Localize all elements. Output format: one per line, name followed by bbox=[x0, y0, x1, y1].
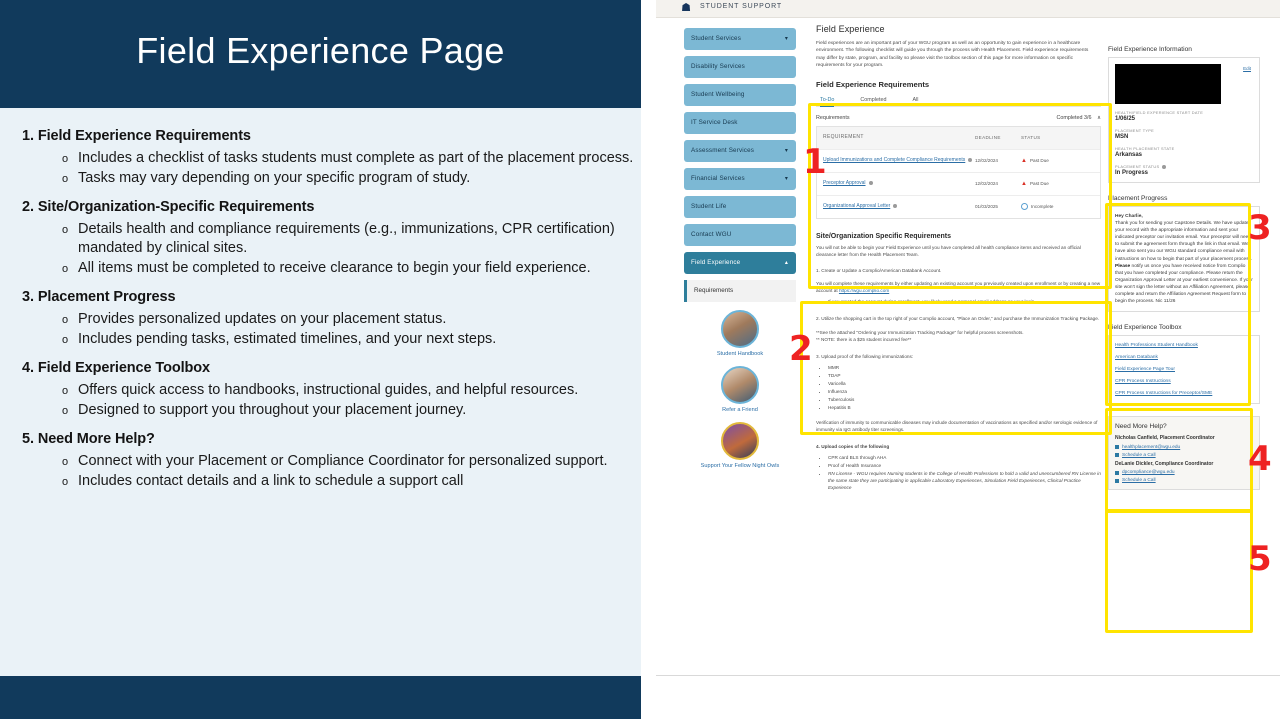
slide-title-band: Field Experience Page bbox=[0, 0, 641, 108]
toolbox-link-page-tour[interactable]: Field Experience Page Tour bbox=[1115, 366, 1253, 373]
owl-logo-icon: ☗ bbox=[680, 3, 692, 14]
field-experience-toolbox-card: Field Experience Toolbox Health Professi… bbox=[1108, 324, 1260, 404]
table-header-row: REQUIREMENT DEADLINE STATUS bbox=[817, 127, 1100, 150]
tab-to-do[interactable]: To-Do bbox=[820, 97, 834, 107]
redacted-photo bbox=[1115, 64, 1221, 104]
sidebar-item-student-wellbeing[interactable]: Student Wellbeing bbox=[684, 84, 796, 106]
toolbox-card-body: Health Professions Student Handbook Amer… bbox=[1108, 335, 1260, 404]
chevron-down-icon: ▾ bbox=[785, 140, 788, 162]
contact-name-placement: Nicholas Canfield, Placement Coordinator bbox=[1115, 435, 1253, 442]
callout-number-1: 1 bbox=[803, 145, 827, 179]
promo-label: Student Handbook bbox=[686, 351, 794, 358]
copies-list: CPR card BLS through AHA Proof of Health… bbox=[816, 454, 1101, 491]
field-label-text: PLACEMENT STATUS bbox=[1115, 164, 1159, 169]
list-item: Offers quick access to handbooks, instru… bbox=[62, 381, 637, 400]
list-item: RN License - WGU requires Nursing studen… bbox=[828, 470, 1101, 491]
section-heading-1: 1. Field Experience Requirements bbox=[22, 118, 637, 144]
screenshot-bottom-edge bbox=[656, 675, 1280, 676]
field-experience-information-card: Field Experience Information Edit HEALTH… bbox=[1108, 46, 1260, 183]
section-bullets-1: Includes a checklist of tasks students m… bbox=[4, 149, 637, 188]
contact-name-compliance: DeLanie Dickler, Compliance Coordinator bbox=[1115, 461, 1253, 468]
list-item: Provides personalized updates on your pl… bbox=[62, 310, 637, 329]
info-card-body: Edit HEALTH/FIELD EXPERIENCE START DATE … bbox=[1108, 57, 1260, 183]
help-card-body: Need More Help? Nicholas Canfield, Place… bbox=[1108, 416, 1260, 490]
status-badge: ▲ Past Due bbox=[1021, 158, 1094, 164]
status-text: Past Due bbox=[1030, 181, 1049, 186]
list-item: CPR card BLS through AHA bbox=[828, 454, 1101, 461]
completed-count: Completed 3/6 bbox=[1056, 115, 1091, 121]
callout-number-5: 5 bbox=[1248, 542, 1272, 576]
requirement-link[interactable]: Organizational Approval Letter bbox=[823, 203, 890, 209]
email-icon bbox=[1115, 445, 1119, 449]
chevron-up-icon: ▴ bbox=[785, 252, 788, 274]
step-3: 3. Upload proof of the following immuniz… bbox=[816, 353, 1101, 360]
sidebar-item-it-service-desk[interactable]: IT Service Desk bbox=[684, 112, 796, 134]
step-4: 4. Upload copies of the following bbox=[816, 443, 1101, 450]
list-item: Designed to support you throughout your … bbox=[62, 401, 637, 420]
complio-link[interactable]: https://wgu.complio.com bbox=[839, 288, 889, 293]
app-brand-label: STUDENT SUPPORT bbox=[700, 3, 782, 10]
progress-card-body: Hey Charlie, Thank you for sending your … bbox=[1108, 206, 1260, 312]
section-bullets-5: Connect with your Placement or Complianc… bbox=[4, 452, 637, 491]
sidebar-item-assessment-services[interactable]: Assessment Services ▾ bbox=[684, 140, 796, 162]
list-item: If you created the account during enroll… bbox=[828, 298, 1101, 305]
sidebar-item-label: Contact WGU bbox=[691, 231, 732, 238]
main-intro-text: Field experiences are an important part … bbox=[816, 40, 1094, 70]
circle-icon bbox=[1021, 203, 1028, 210]
site-step-1-bullets: If you created the account during enroll… bbox=[816, 298, 1101, 305]
deadline-value: 12/02/2024 bbox=[975, 158, 1021, 163]
immunizations-list: MMR TDAP Varicella Influenza Tuberculosi… bbox=[816, 364, 1101, 411]
section-heading-5: 5. Need More Help? bbox=[22, 421, 637, 447]
schedule-call-compliance[interactable]: Schedule a Call bbox=[1115, 478, 1253, 483]
avatar bbox=[721, 310, 759, 348]
info-icon[interactable] bbox=[968, 158, 972, 162]
column-deadline: DEADLINE bbox=[975, 135, 1021, 140]
placement-progress-card: Placement Progress Hey Charlie, Thank yo… bbox=[1108, 195, 1260, 312]
field-experience-requirements-card: Field Experience Requirements To-Do Comp… bbox=[816, 80, 1101, 219]
section-heading-2: 2. Site/Organization-Specific Requiremen… bbox=[22, 189, 637, 215]
list-item: Includes contact details and a link to s… bbox=[62, 472, 637, 491]
note-1: **See the attached "Ordering your Immuni… bbox=[816, 329, 1101, 336]
warning-icon: ▲ bbox=[1021, 181, 1027, 187]
requirement-link[interactable]: Upload Immunizations and Complete Compli… bbox=[823, 157, 965, 163]
site-intro-text: You will not be able to begin your Field… bbox=[816, 244, 1101, 258]
sidebar-item-label: Student Life bbox=[691, 203, 726, 210]
status-badge: Incomplete bbox=[1021, 203, 1094, 210]
chevron-down-icon: ▾ bbox=[785, 28, 788, 50]
list-item: Includes a checklist of tasks students m… bbox=[62, 149, 637, 168]
card-title: Placement Progress bbox=[1108, 195, 1260, 202]
sidebar-item-field-experience[interactable]: Field Experience ▴ bbox=[684, 252, 796, 274]
info-icon[interactable] bbox=[1162, 165, 1166, 169]
site-organization-requirements-card: Site/Organization Specific Requirements … bbox=[816, 233, 1101, 305]
sidebar-item-student-services[interactable]: Student Services ▾ bbox=[684, 28, 796, 50]
field-value-placement-state: Arkansas bbox=[1115, 152, 1253, 158]
field-label-placement-state: HEALTH PLACEMENT STATE bbox=[1115, 146, 1253, 151]
calendar-icon bbox=[1115, 453, 1119, 457]
edit-link[interactable]: Edit bbox=[1243, 66, 1251, 71]
sidebar-item-label: Field Experience bbox=[691, 259, 740, 266]
promo-label: Support Your Fellow Night Owls bbox=[686, 463, 794, 470]
verification-text: Verification of immunity to communicable… bbox=[816, 419, 1101, 433]
table-row[interactable]: Organizational Approval Letter 01/03/202… bbox=[817, 196, 1100, 218]
sidebar-promos: Student Handbook Refer a Friend Support … bbox=[686, 310, 794, 478]
card-title: Field Experience Toolbox bbox=[1108, 324, 1260, 331]
slide-content: 1. Field Experience Requirements Include… bbox=[0, 108, 641, 492]
field-value-placement-type: MSN bbox=[1115, 134, 1253, 140]
field-label-start-date: HEALTH/FIELD EXPERIENCE START DATE bbox=[1115, 110, 1253, 115]
sidebar-item-label: Financial Services bbox=[691, 175, 745, 182]
list-item: Includes pending tasks, estimated timeli… bbox=[62, 330, 637, 349]
contact-email-placement[interactable]: healthplacement@wgu.edu bbox=[1115, 445, 1253, 450]
page-title: Field Experience Page bbox=[0, 30, 641, 72]
requirements-collapse-toggle[interactable]: Completed 3/6 ∧ bbox=[1056, 115, 1101, 121]
slide-bottom-band bbox=[0, 676, 641, 719]
list-item: Connect with your Placement or Complianc… bbox=[62, 452, 637, 471]
list-item: Details health and compliance requiremen… bbox=[62, 220, 637, 258]
list-item: TDAP bbox=[828, 372, 1101, 379]
column-requirement: REQUIREMENT bbox=[823, 134, 975, 141]
sidebar-item-contact-wgu[interactable]: Contact WGU bbox=[684, 224, 796, 246]
list-item: All items must be completed to receive c… bbox=[62, 259, 637, 278]
sidebar-item-label: Student Services bbox=[691, 35, 741, 42]
progress-message-emphasis: Please bbox=[1115, 264, 1130, 269]
section-bullets-3: Provides personalized updates on your pl… bbox=[4, 310, 637, 349]
list-item: Proof of Health Insurance bbox=[828, 462, 1101, 469]
callout-number-3: 3 bbox=[1248, 211, 1272, 245]
progress-message-part-1: Thank you for sending your Capstone Deta… bbox=[1115, 221, 1252, 261]
email-text: dpcompliance@wgu.edu bbox=[1122, 470, 1175, 475]
sidebar-item-label: Student Wellbeing bbox=[691, 91, 745, 98]
table-row[interactable]: Upload Immunizations and Complete Compli… bbox=[817, 150, 1100, 173]
section-heading-4: 4. Field Experience Toolbox bbox=[22, 350, 637, 376]
section-bullets-4: Offers quick access to handbooks, instru… bbox=[4, 381, 637, 420]
sidebar-item-label: Assessment Services bbox=[691, 147, 754, 154]
main-below-content: 2. Utilize the shopping cart in the top … bbox=[816, 315, 1101, 491]
progress-message-part-2: notify us once you have received notice … bbox=[1115, 264, 1253, 304]
field-value-placement-status: In Progress bbox=[1115, 170, 1253, 176]
toolbox-link-cpr-preceptor[interactable]: CPR Process Instructions for Preceptor/S… bbox=[1115, 390, 1253, 397]
section-heading-3: 3. Placement Progress bbox=[22, 279, 637, 305]
chevron-down-icon: ▾ bbox=[785, 168, 788, 190]
embedded-screenshot: ☗ STUDENT SUPPORT Student Services ▾ Dis… bbox=[656, 0, 1280, 676]
sidebar-item-student-life[interactable]: Student Life bbox=[684, 196, 796, 218]
list-item: Varicella bbox=[828, 380, 1101, 387]
card-title: Field Experience Information bbox=[1108, 46, 1260, 53]
requirement-link[interactable]: Preceptor Approval bbox=[823, 180, 866, 186]
site-step-1-body: You will complete these requirements by … bbox=[816, 280, 1101, 294]
list-item: Tasks may vary depending on your specifi… bbox=[62, 169, 637, 188]
deadline-value: 12/02/2024 bbox=[975, 181, 1021, 186]
step-2: 2. Utilize the shopping cart in the top … bbox=[816, 315, 1101, 322]
sidebar-subitem-requirements[interactable]: Requirements bbox=[684, 280, 796, 302]
warning-icon: ▲ bbox=[1021, 158, 1027, 164]
card-title: Field Experience Requirements bbox=[816, 80, 1101, 89]
column-status: STATUS bbox=[1021, 135, 1094, 140]
schedule-call-text: Schedule a Call bbox=[1122, 478, 1156, 483]
toolbox-link-cpr-instructions[interactable]: CPR Process Instructions bbox=[1115, 378, 1253, 385]
schedule-call-placement[interactable]: Schedule a Call bbox=[1115, 453, 1253, 458]
field-value-start-date: 1/06/25 bbox=[1115, 116, 1253, 122]
tab-all[interactable]: All bbox=[912, 97, 918, 107]
toolbox-link-student-handbook[interactable]: Health Professions Student Handbook bbox=[1115, 342, 1253, 349]
status-badge: ▲ Past Due bbox=[1021, 181, 1094, 187]
calendar-icon bbox=[1115, 479, 1119, 483]
main-heading: Field Experience bbox=[816, 24, 1101, 34]
site-step-1: 1. Create or Update a Complio/American D… bbox=[816, 267, 1101, 274]
note-2: ** NOTE: there is a $25 student incurred… bbox=[816, 336, 1101, 343]
field-label-placement-type: PLACEMENT TYPE bbox=[1115, 128, 1253, 133]
slide-gutter bbox=[641, 0, 656, 676]
field-label-placement-status: PLACEMENT STATUS bbox=[1115, 164, 1253, 169]
card-title: Need More Help? bbox=[1115, 423, 1253, 430]
chevron-up-icon: ∧ bbox=[1097, 115, 1101, 121]
progress-message: Thank you for sending your Capstone Deta… bbox=[1115, 220, 1253, 305]
table-row[interactable]: Preceptor Approval 12/02/2024 ▲ Past Due bbox=[817, 173, 1100, 196]
promo-student-handbook[interactable]: Student Handbook bbox=[686, 310, 794, 358]
info-icon[interactable] bbox=[869, 181, 873, 185]
list-item: Influenza bbox=[828, 388, 1101, 395]
list-item: MMR bbox=[828, 364, 1101, 371]
card-title: Site/Organization Specific Requirements bbox=[816, 233, 1101, 240]
app-topbar: ☗ STUDENT SUPPORT bbox=[656, 0, 1280, 18]
slide-left-panel: Field Experience Page 1. Field Experienc… bbox=[0, 0, 641, 719]
sidebar-item-financial-services[interactable]: Financial Services ▾ bbox=[684, 168, 796, 190]
progress-greeting: Hey Charlie, bbox=[1115, 213, 1253, 220]
avatar bbox=[721, 366, 759, 404]
email-text: healthplacement@wgu.edu bbox=[1122, 445, 1180, 450]
app-right-rail: Field Experience Information Edit HEALTH… bbox=[1108, 46, 1260, 490]
callout-number-4: 4 bbox=[1248, 442, 1272, 476]
avatar bbox=[721, 422, 759, 460]
callout-number-2: 2 bbox=[789, 332, 813, 366]
status-text: Incomplete bbox=[1031, 204, 1053, 209]
sidebar-item-label: IT Service Desk bbox=[691, 119, 738, 126]
requirements-label: Requirements bbox=[816, 115, 850, 121]
requirements-summary-row: Requirements Completed 3/6 ∧ bbox=[816, 115, 1101, 121]
schedule-call-text: Schedule a Call bbox=[1122, 453, 1156, 458]
info-icon[interactable] bbox=[893, 204, 897, 208]
tab-completed[interactable]: Completed bbox=[860, 97, 886, 107]
deadline-value: 01/03/2025 bbox=[975, 204, 1021, 209]
list-item: Tuberculosis bbox=[828, 396, 1101, 403]
sidebar-item-disability-services[interactable]: Disability Services bbox=[684, 56, 796, 78]
promo-refer-a-friend[interactable]: Refer a Friend bbox=[686, 366, 794, 414]
requirements-table: REQUIREMENT DEADLINE STATUS Upload Immun… bbox=[816, 126, 1101, 219]
sidebar-item-label: Disability Services bbox=[691, 63, 745, 70]
slide-body: 1. Field Experience Requirements Include… bbox=[0, 108, 641, 676]
list-item: Hepatitis B bbox=[828, 404, 1101, 411]
contact-email-compliance[interactable]: dpcompliance@wgu.edu bbox=[1115, 470, 1253, 475]
email-icon bbox=[1115, 471, 1119, 475]
need-more-help-card: Need More Help? Nicholas Canfield, Place… bbox=[1108, 416, 1260, 490]
toolbox-link-american-databank[interactable]: American Databank bbox=[1115, 354, 1253, 361]
status-text: Past Due bbox=[1030, 158, 1049, 163]
slide-root: Field Experience Page 1. Field Experienc… bbox=[0, 0, 1280, 719]
section-bullets-2: Details health and compliance requiremen… bbox=[4, 220, 637, 278]
app-main-column: Field Experience Field experiences are a… bbox=[816, 24, 1101, 492]
promo-support-night-owls[interactable]: Support Your Fellow Night Owls bbox=[686, 422, 794, 470]
promo-label: Refer a Friend bbox=[686, 407, 794, 414]
app-sidebar: Student Services ▾ Disability Services S… bbox=[684, 28, 796, 308]
